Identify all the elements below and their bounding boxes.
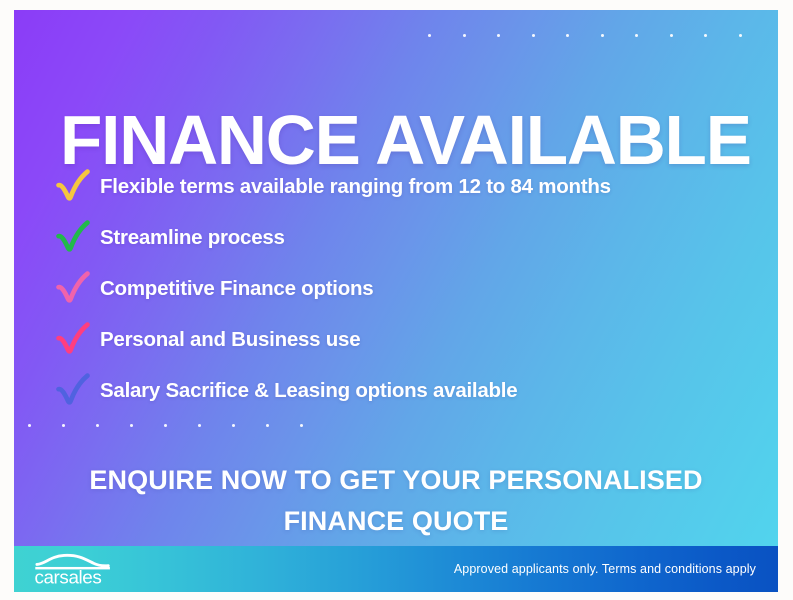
check-icon [50,165,96,209]
decorative-dot [266,424,269,427]
list-item: Salary Sacrifice & Leasing options avail… [50,366,770,415]
decorative-dot [566,34,569,37]
list-item-label: Flexible terms available ranging from 12… [100,175,611,199]
benefits-list: Flexible terms available ranging from 12… [50,162,770,415]
finance-promo-banner: FINANCE AVAILABLE Flexible terms availab… [14,10,778,592]
list-item-label: Salary Sacrifice & Leasing options avail… [100,379,517,403]
decorative-dot [62,424,65,427]
call-to-action: ENQUIRE NOW TO GET YOUR PERSONALISED FIN… [14,460,778,542]
list-item: Competitive Finance options [50,264,770,313]
carsales-logo[interactable]: carsales [32,552,114,586]
disclaimer-text: Approved applicants only. Terms and cond… [454,562,756,576]
decorative-dot [28,424,31,427]
cta-line-1: ENQUIRE NOW TO GET YOUR PERSONALISED [14,460,778,501]
decorative-dot [428,34,431,37]
decorative-dot [463,34,466,37]
decorative-dot [670,34,673,37]
svg-text:carsales: carsales [34,566,101,586]
decorative-dot [96,424,99,427]
decorative-dot [532,34,535,37]
decorative-dot-row-middle [28,424,334,427]
footer-bar: carsales Approved applicants only. Terms… [14,546,778,592]
decorative-dot [232,424,235,427]
decorative-dot [300,424,303,427]
decorative-dot [164,424,167,427]
list-item-label: Streamline process [100,226,285,250]
list-item-label: Competitive Finance options [100,277,373,301]
check-icon [50,318,96,362]
list-item-label: Personal and Business use [100,328,360,352]
decorative-dot [497,34,500,37]
decorative-dot-row-top [428,34,773,37]
check-icon [50,369,96,413]
check-icon [50,216,96,260]
decorative-dot [601,34,604,37]
cta-line-2: FINANCE QUOTE [14,501,778,542]
decorative-dot [635,34,638,37]
decorative-dot [130,424,133,427]
decorative-dot [198,424,201,427]
list-item: Flexible terms available ranging from 12… [50,162,770,211]
decorative-dot [704,34,707,37]
decorative-dot [739,34,742,37]
check-icon [50,267,96,311]
list-item: Personal and Business use [50,315,770,364]
list-item: Streamline process [50,213,770,262]
